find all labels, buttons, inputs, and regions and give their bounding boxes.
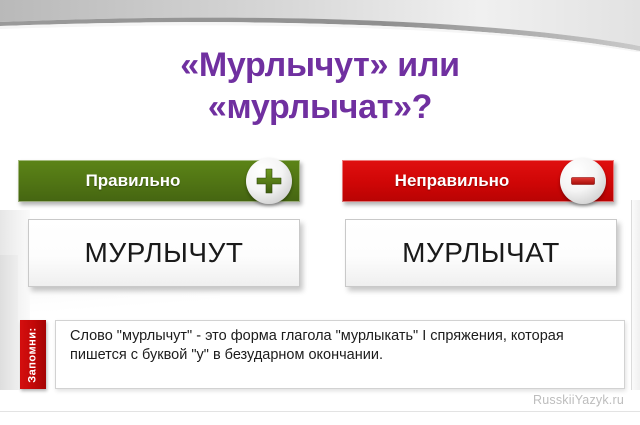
correct-answer-box[interactable]: МУРЛЫЧУТ xyxy=(28,219,300,287)
explanation-text: Слово "мурлычут" - это форма глагола "му… xyxy=(70,327,614,365)
wrong-banner[interactable]: Неправильно xyxy=(342,160,614,202)
background-right-band xyxy=(632,200,640,390)
background-right-divider xyxy=(631,200,632,390)
remember-tab: Запомни: xyxy=(20,320,46,389)
site-watermark: RusskiiYazyk.ru xyxy=(533,393,624,407)
slide-canvas: «Мурлычут» или «мурлычат»? Правильно Неп… xyxy=(0,0,640,425)
correct-answer-word: МУРЛЫЧУТ xyxy=(85,237,244,269)
plus-circle-icon xyxy=(246,158,292,204)
correct-banner[interactable]: Правильно xyxy=(18,160,300,202)
explanation-box: Слово "мурлычут" - это форма глагола "му… xyxy=(55,320,625,389)
title-line-2: «мурлычат»? xyxy=(0,86,640,128)
minus-circle-icon xyxy=(560,158,606,204)
background-left-band-inner xyxy=(0,255,18,390)
wrong-answer-word: МУРЛЫЧАТ xyxy=(402,237,560,269)
wrong-answer-box[interactable]: МУРЛЫЧАТ xyxy=(345,219,617,287)
title-line-1: «Мурлычут» или xyxy=(0,44,640,86)
slide-title: «Мурлычут» или «мурлычат»? xyxy=(0,44,640,128)
background-bottom-divider xyxy=(0,411,640,412)
wrong-banner-label: Неправильно xyxy=(342,160,562,202)
remember-tab-label: Запомни: xyxy=(27,327,39,382)
correct-banner-label: Правильно xyxy=(18,160,248,202)
